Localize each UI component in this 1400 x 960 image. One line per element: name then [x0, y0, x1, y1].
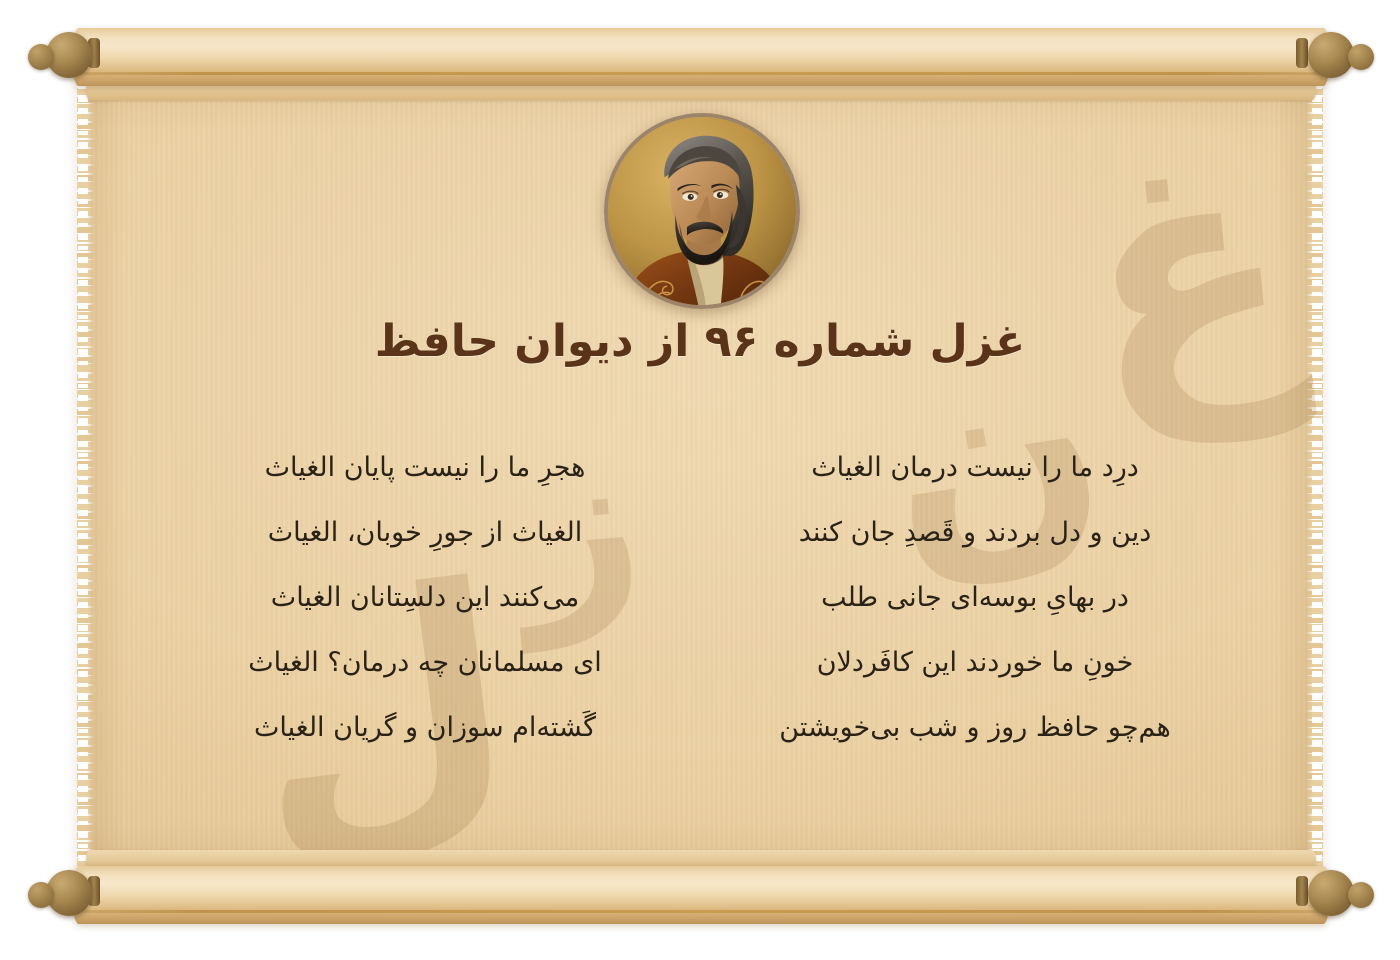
poem-body: درِد ما را نیست درمان الغیاث هجرِ ما را …	[120, 452, 1280, 777]
couplet-row: در بهایِ بوسه‌ای جانی طلب می‌کنند این دل…	[120, 582, 1280, 647]
finial-cap-icon	[28, 44, 54, 70]
hemistich-right: دین و دل بردند و قَصدِ جان کنند	[700, 517, 1280, 548]
finial-cap-icon	[1348, 44, 1374, 70]
hemistich-left: می‌کنند این دلسِتانان الغیاث	[120, 582, 700, 613]
hemistich-left: هجرِ ما را نیست پایان الغیاث	[120, 452, 700, 483]
torn-edge-right-icon	[1306, 62, 1323, 890]
hemistich-left: الغیاث از جورِ خوبان، الغیاث	[120, 517, 700, 548]
finial-cap-icon	[1348, 882, 1374, 908]
couplet-row: درِد ما را نیست درمان الغیاث هجرِ ما را …	[120, 452, 1280, 517]
hemistich-right: هم‌چو حافظ روز و شب بی‌خویشتن	[700, 712, 1280, 743]
hemistich-right: درِد ما را نیست درمان الغیاث	[700, 452, 1280, 483]
portrait-medallion	[604, 113, 800, 309]
torn-edge-left-icon	[77, 62, 94, 890]
couplet-row: دین و دل بردند و قَصدِ جان کنند الغیاث ا…	[120, 517, 1280, 582]
hemistich-left: گَشته‌ام سوزان و گریان الغیاث	[120, 712, 700, 743]
hemistich-right: خونِ ما خوردند این کافَردلان	[700, 647, 1280, 678]
finial-cap-icon	[28, 882, 54, 908]
scroll-stage: غ ن ل ز	[0, 0, 1400, 960]
hafez-portrait-icon	[604, 113, 800, 309]
page-title: غزل شماره ۹۶ از دیوان حافظ	[0, 316, 1400, 367]
scroll-rod-top	[72, 28, 1330, 86]
couplet-row: خونِ ما خوردند این کافَردلان ای مسلمانان…	[120, 647, 1280, 712]
hemistich-left: ای مسلمانان چه درمان؟ الغیاث	[120, 647, 700, 678]
hemistich-right: در بهایِ بوسه‌ای جانی طلب	[700, 582, 1280, 613]
scroll-rod-bottom	[72, 866, 1330, 924]
torn-edge-left-mask	[78, 62, 88, 890]
torn-edge-right-mask	[1312, 62, 1322, 890]
couplet-row: هم‌چو حافظ روز و شب بی‌خویشتن گَشته‌ام س…	[120, 712, 1280, 777]
